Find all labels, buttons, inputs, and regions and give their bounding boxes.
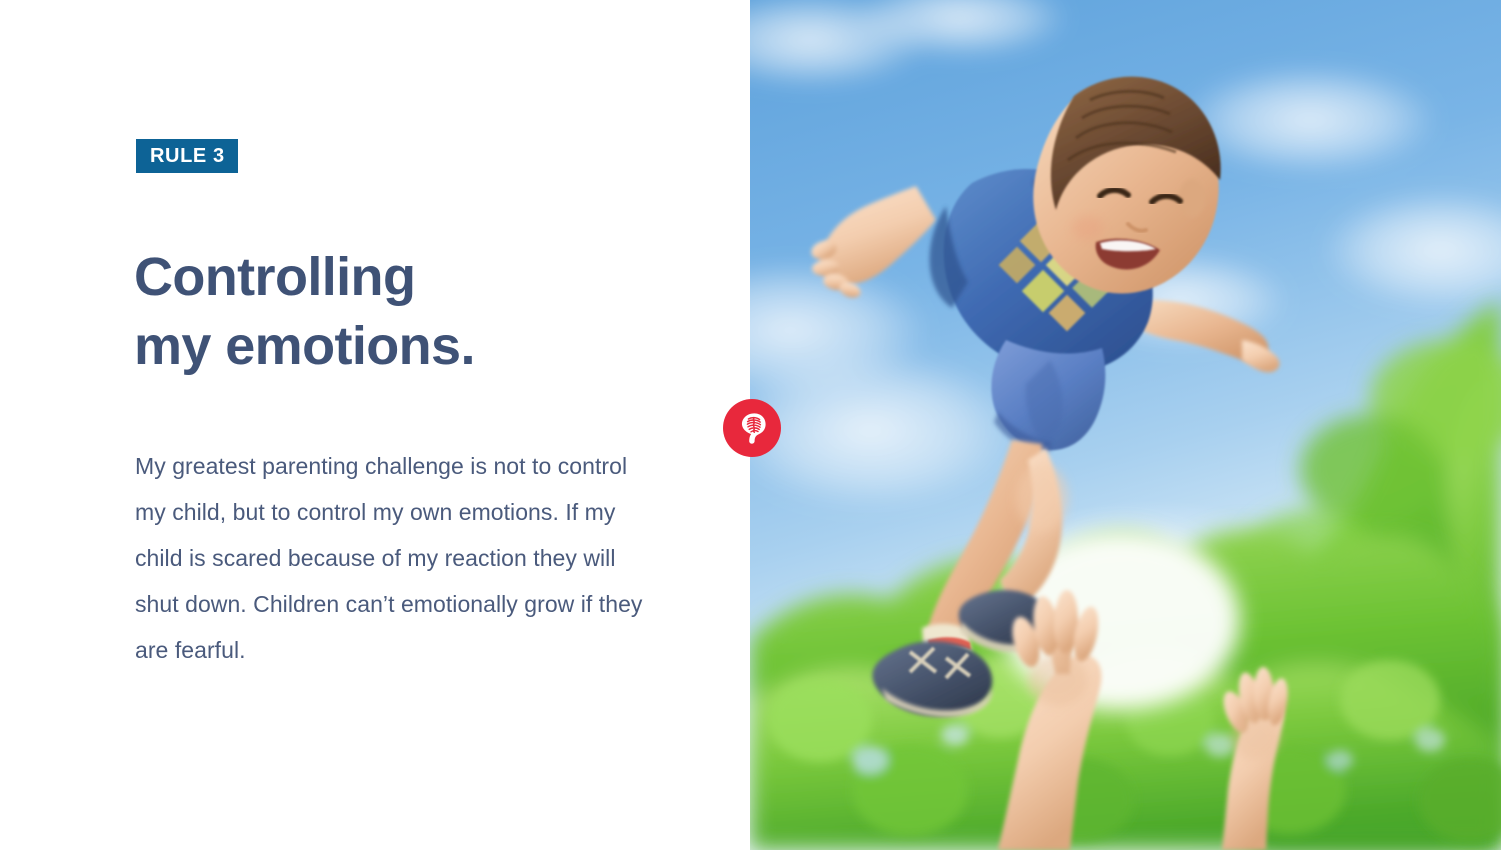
brain-icon [733, 409, 771, 447]
page-title: Controlling my emotions. [134, 243, 694, 380]
rule-badge-label: RULE 3 [150, 146, 225, 166]
hero-photo [750, 0, 1501, 850]
slide-root: RULE 3 Controlling my emotions. My great… [0, 0, 1501, 850]
hero-photo-illustration [750, 0, 1501, 850]
rule-badge: RULE 3 [136, 139, 238, 173]
text-column: RULE 3 Controlling my emotions. My great… [0, 0, 750, 850]
brain-icon-badge[interactable] [723, 399, 781, 457]
body-paragraph: My greatest parenting challenge is not t… [135, 443, 655, 673]
